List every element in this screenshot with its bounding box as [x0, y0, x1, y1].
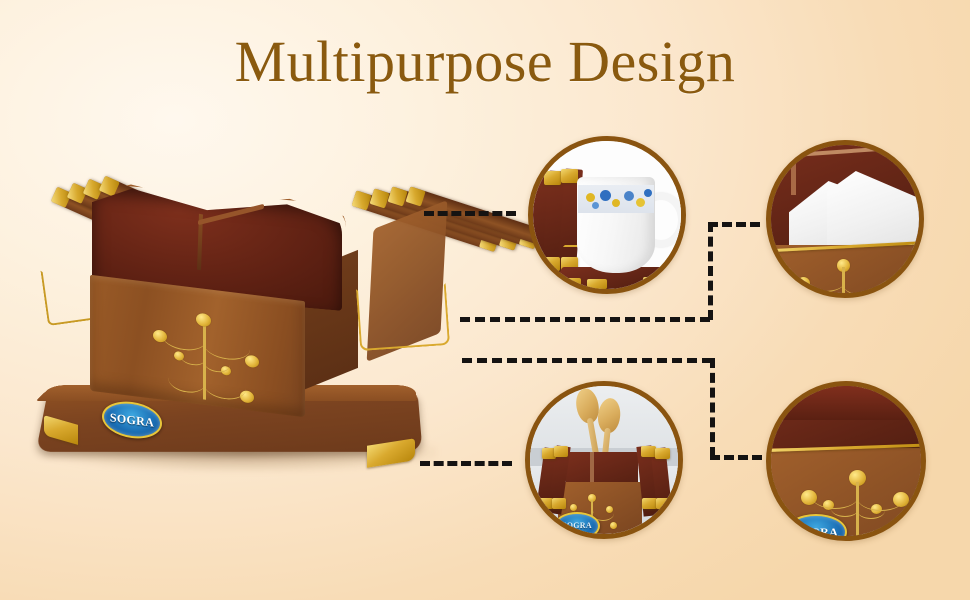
brass-corner	[561, 278, 581, 288]
floral-motif	[592, 202, 599, 209]
brass-clip	[655, 448, 670, 459]
inlay-branch	[805, 271, 845, 292]
brass-clip	[539, 498, 553, 509]
connector-top-right	[708, 222, 760, 227]
inset-cup[interactable]	[528, 136, 686, 294]
connector-vertical-bottom	[710, 358, 715, 457]
interior-back-wall	[781, 381, 926, 420]
connector-top-left	[424, 211, 516, 216]
sogra-logo-text: SOGRA	[794, 526, 838, 538]
inlay-dot	[245, 355, 259, 369]
brass-clip	[543, 257, 560, 271]
inlay-dot	[610, 522, 617, 529]
brass-corner	[643, 277, 663, 287]
page-title: Multipurpose Design	[0, 28, 970, 95]
connector-mid-horizontal-bottom	[462, 358, 712, 363]
inlay-branch	[857, 518, 903, 541]
connector-bottom-right	[710, 455, 762, 460]
coaster-stack-right	[318, 190, 453, 390]
connector-vertical-top	[708, 222, 713, 320]
interior-divider	[590, 452, 594, 482]
inlay-branch	[204, 372, 246, 402]
main-product-image: SOGRA	[30, 170, 450, 500]
sogra-logo-text: SOGRA	[110, 411, 154, 428]
inlay-dot	[819, 295, 829, 298]
floral-motif	[624, 191, 634, 201]
inlay-dot	[196, 313, 211, 328]
cup-floral-band	[578, 185, 654, 213]
inlay-branch	[831, 500, 859, 517]
inset-spoons[interactable]: SOGRA	[525, 381, 683, 539]
sogra-logo-badge: SOGRA	[554, 512, 600, 539]
interior-divider	[791, 140, 796, 195]
inset-inlay-scene: SOGRA	[771, 386, 921, 536]
brass-corner	[587, 279, 607, 289]
inset-napkin-scene	[771, 145, 919, 293]
brass-clip	[641, 446, 656, 457]
coaster-wire-right	[356, 283, 450, 351]
inlay-branch	[843, 273, 885, 296]
connector-mid-horizontal-top	[460, 317, 710, 322]
floral-motif	[636, 198, 645, 207]
inset-napkin[interactable]	[766, 140, 924, 298]
inset-inlay[interactable]: SOGRA	[766, 381, 926, 541]
floral-motif	[600, 190, 611, 201]
poster-canvas: Multipurpose Design	[0, 0, 970, 600]
brass-clip	[552, 498, 566, 509]
inlay-branch	[168, 365, 206, 395]
sogra-logo-text: SOGRA	[562, 522, 592, 530]
floral-motif	[586, 193, 595, 202]
floral-motif	[644, 189, 652, 197]
brass-clip	[544, 171, 561, 185]
brass-inlay-tree	[148, 305, 268, 412]
inset-spoons-scene: SOGRA	[530, 386, 678, 534]
brass-clip	[642, 498, 657, 509]
brass-clip	[656, 498, 671, 509]
brass-clip	[561, 169, 578, 183]
inlay-branch	[857, 502, 885, 519]
inset-cup-scene	[533, 141, 681, 289]
connector-bottom-left	[420, 461, 512, 466]
brass-clip	[554, 446, 568, 457]
floral-motif	[612, 199, 620, 207]
